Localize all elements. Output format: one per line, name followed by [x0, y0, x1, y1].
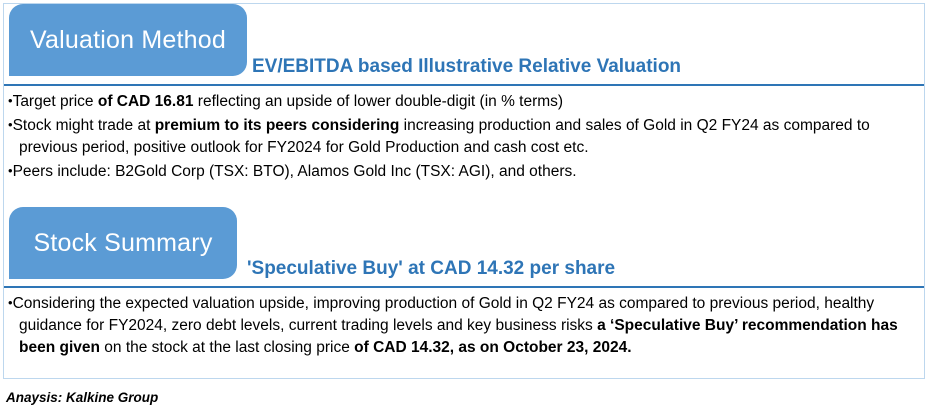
bullet-text: reflecting an upside of lower double-dig…	[193, 93, 563, 110]
bullet-item: •Peers include: B2Gold Corp (TSX: BTO), …	[8, 160, 914, 183]
valuation-method-bullets: •Target price of CAD 16.81 reflecting an…	[4, 86, 924, 190]
bullet-item: •Stock might trade at premium to its pee…	[8, 114, 914, 159]
bullet-item: •Considering the expected valuation upsi…	[8, 292, 914, 359]
bullet-text: Peers include: B2Gold Corp (TSX: BTO), A…	[13, 163, 577, 180]
bullet-text: Stock might trade at	[13, 117, 155, 134]
bullet-text: Target price	[13, 93, 98, 110]
stock-summary-pill: Stock Summary	[9, 207, 237, 279]
bullet-text-emphasis: of CAD 14.32, as on October 23, 2024.	[354, 339, 631, 356]
stock-summary-bullets: •Considering the expected valuation upsi…	[4, 288, 924, 376]
valuation-method-header: Valuation Method EV/EBITDA based Illustr…	[4, 4, 924, 86]
bullet-item: •Target price of CAD 16.81 reflecting an…	[8, 90, 914, 113]
stock-summary-header: Stock Summary 'Speculative Buy' at CAD 1…	[4, 207, 924, 288]
valuation-method-heading: EV/EBITDA based Illustrative Relative Va…	[252, 56, 681, 78]
bullet-text-emphasis: of CAD 16.81	[98, 93, 194, 110]
valuation-method-rule	[4, 84, 924, 86]
section-divider-gap	[4, 190, 924, 207]
stock-summary-rule	[4, 286, 924, 288]
bullet-text-emphasis: premium to its peers considering	[155, 117, 400, 134]
stock-summary-heading: 'Speculative Buy' at CAD 14.32 per share	[247, 258, 615, 280]
bullet-text: on the stock at the last closing price	[100, 339, 354, 356]
valuation-method-pill: Valuation Method	[9, 4, 247, 76]
analysis-source-note: Anaysis: Kalkine Group	[6, 390, 158, 405]
report-frame: Valuation Method EV/EBITDA based Illustr…	[3, 3, 925, 379]
